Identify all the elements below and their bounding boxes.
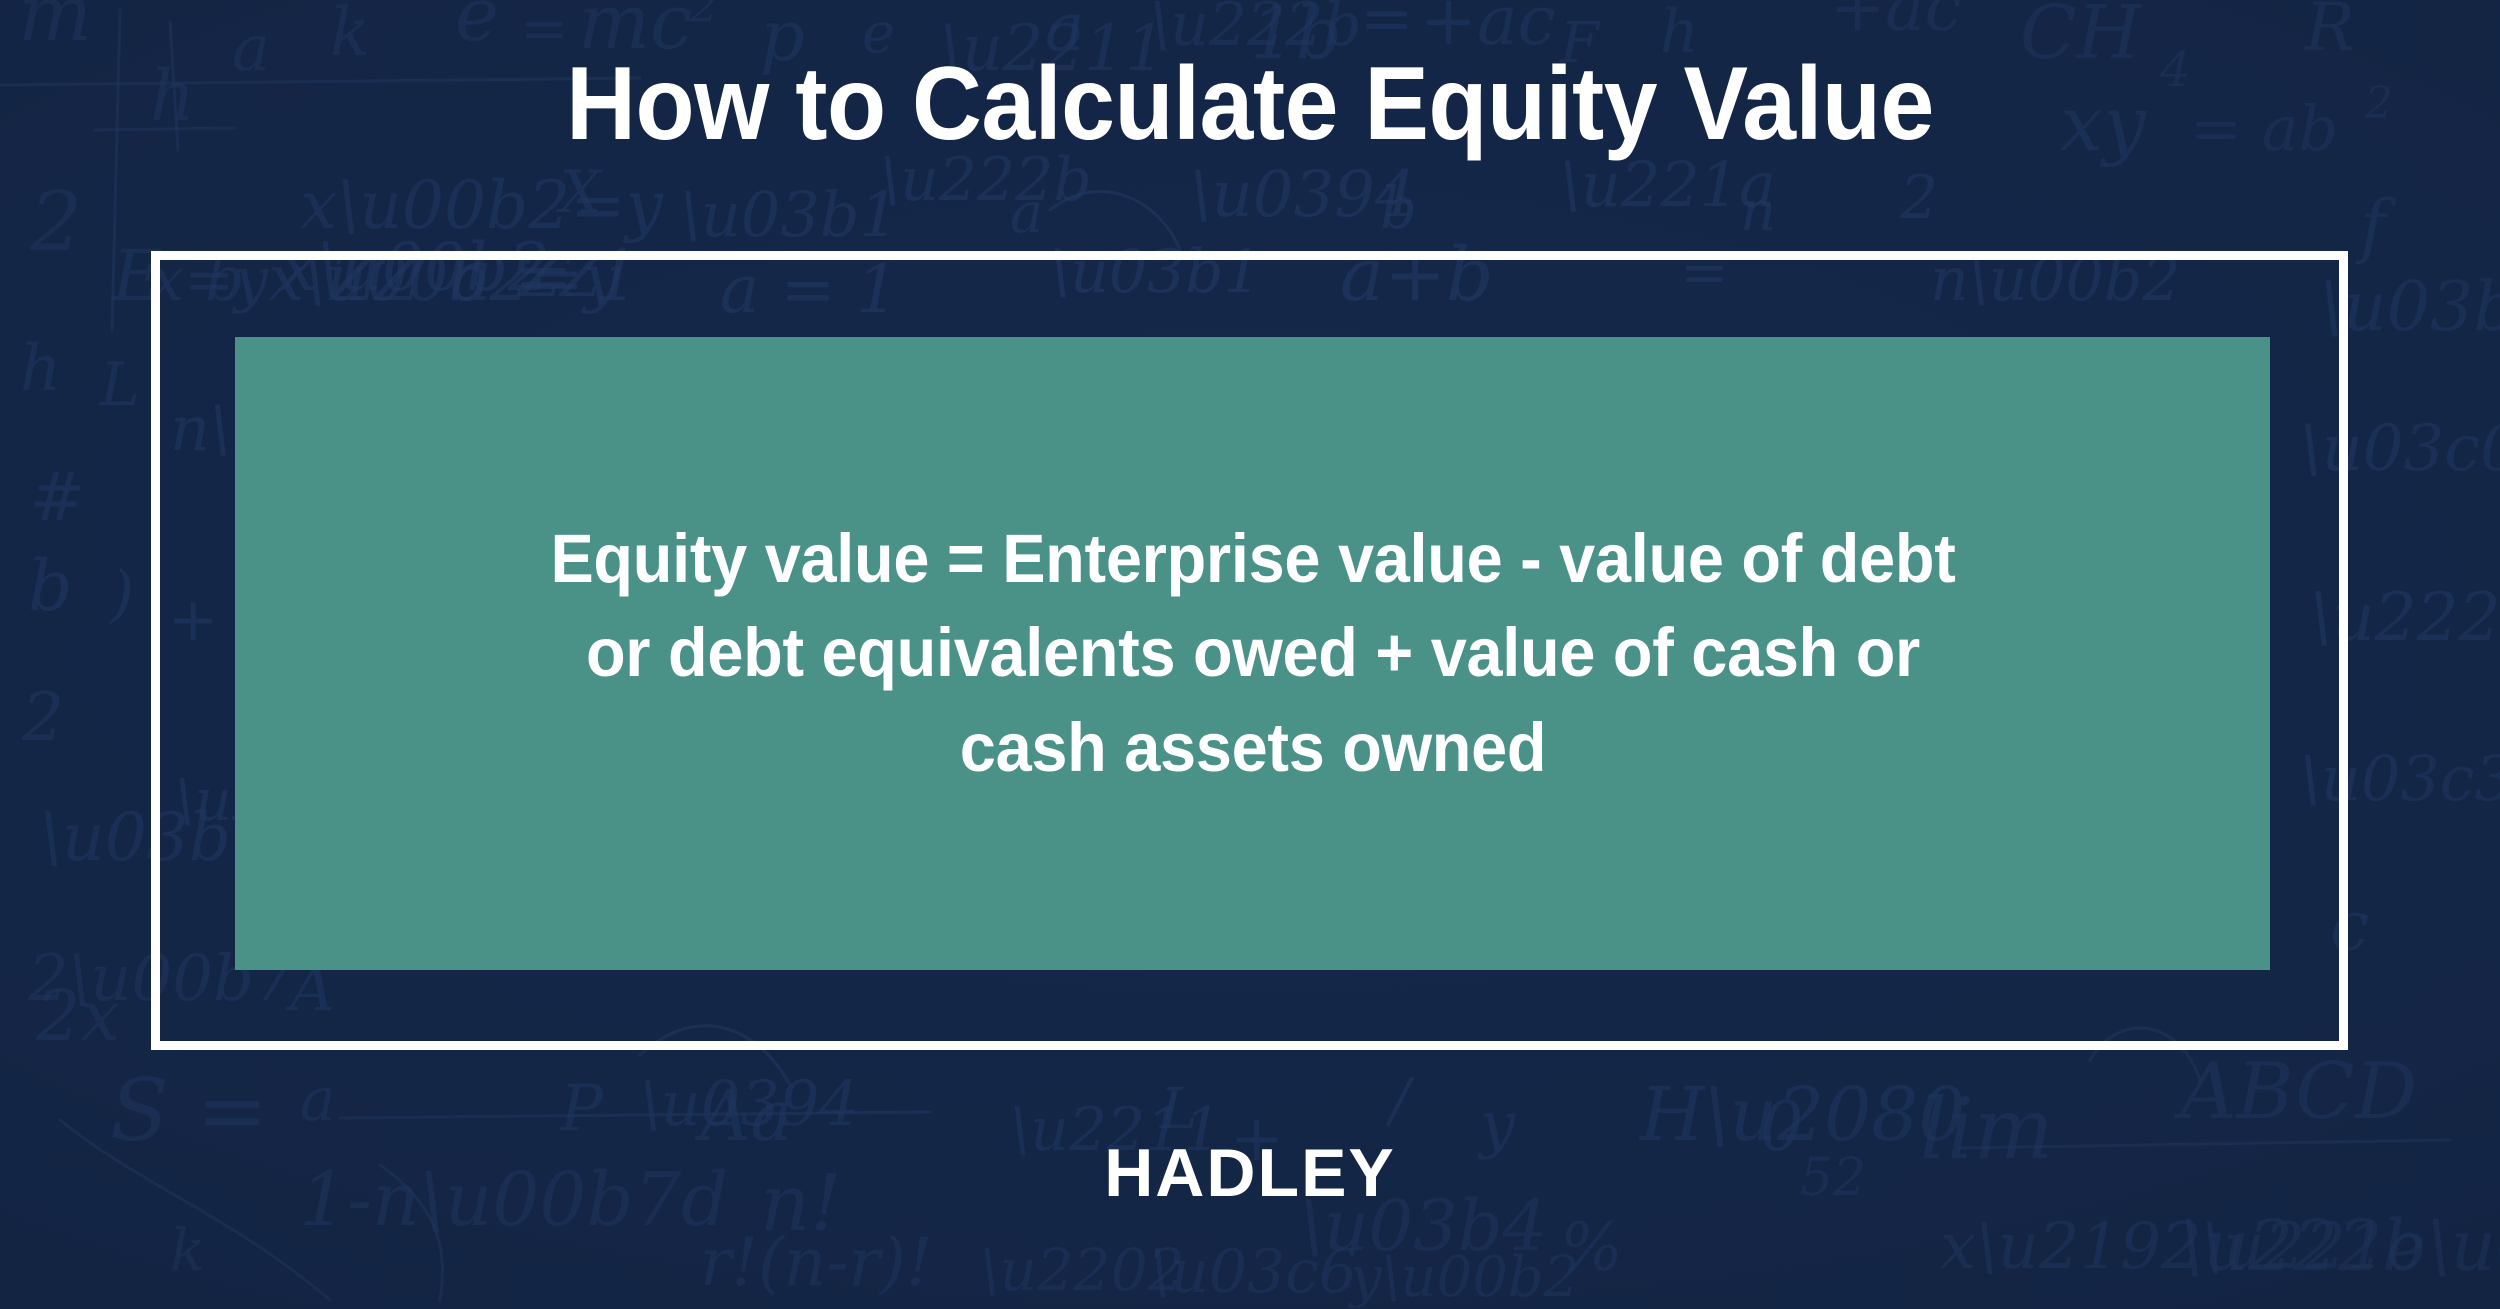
svg-text:+ac: +ac: [1830, 0, 1962, 46]
formula-text: Equity value = Enterprise value - value …: [411, 512, 2094, 796]
svg-text:h: h: [20, 332, 61, 406]
svg-text:k: k: [170, 1216, 205, 1284]
svg-text:b: b: [28, 545, 73, 627]
svg-text:L: L: [1159, 1077, 1197, 1142]
svg-text:m: m: [18, 0, 92, 59]
svg-text:2: 2: [29, 175, 82, 270]
svg-text:L: L: [99, 350, 140, 420]
svg-text:\u222b\u03b1\u00b7|: \u222b\u03b1\u00b7|: [2180, 1205, 2500, 1287]
svg-text:n: n: [1740, 179, 1776, 244]
formula-line-3: cash assets owned: [411, 701, 2094, 796]
formula-line-1: Equity value = Enterprise value - value …: [411, 512, 2094, 607]
page-title: How to Calculate Equity Value: [88, 48, 2413, 160]
svg-text:a: a: [1010, 181, 1043, 246]
svg-text:\u2202: \u2202: [980, 1236, 1185, 1304]
formula-panel: Equity value = Enterprise value - value …: [235, 337, 2270, 970]
svg-text:): ): [108, 557, 134, 630]
svg-text:2: 2: [1899, 163, 1938, 233]
svg-text:2: 2: [21, 679, 64, 756]
svg-text:b: b: [1380, 174, 1417, 242]
svg-text:y\u00b2: y\u00b2: [1347, 1245, 1579, 1309]
svg-text:r!(n-r)!: r!(n-r)!: [700, 1224, 932, 1301]
svg-text:x\u00b2=y: x\u00b2=y: [300, 167, 663, 244]
svg-text:#: #: [30, 459, 85, 536]
svg-text:x\u2192\u221e: x\u2192\u221e: [1940, 1210, 2425, 1284]
svg-text:a: a: [300, 1065, 336, 1135]
svg-text:\u0394: \u0394: [1190, 158, 1416, 232]
slide-canvas: m h a k e = mc 2 2 E b x\u00b2 x=y ZZ a …: [0, 0, 2500, 1309]
svg-text:ABCD: ABCD: [2174, 1047, 2417, 1137]
svg-text:f: f: [2355, 185, 2397, 267]
svg-text:2x: 2x: [35, 975, 120, 1057]
svg-text:%: %: [1560, 1209, 1623, 1286]
brand-wordmark: HADLEY: [0, 1134, 2500, 1212]
formula-line-2: or debt equivalents owed + value of cash…: [411, 606, 2094, 701]
svg-text:\u03b1: \u03b1: [680, 178, 899, 251]
svg-text:/: /: [1385, 1066, 1415, 1134]
svg-text:\u0394: \u0394: [640, 1067, 859, 1140]
svg-text:\u03c6: \u03c6: [1150, 1237, 1357, 1307]
svg-text:2: 2: [689, 0, 718, 33]
svg-text:X: X: [556, 158, 604, 226]
